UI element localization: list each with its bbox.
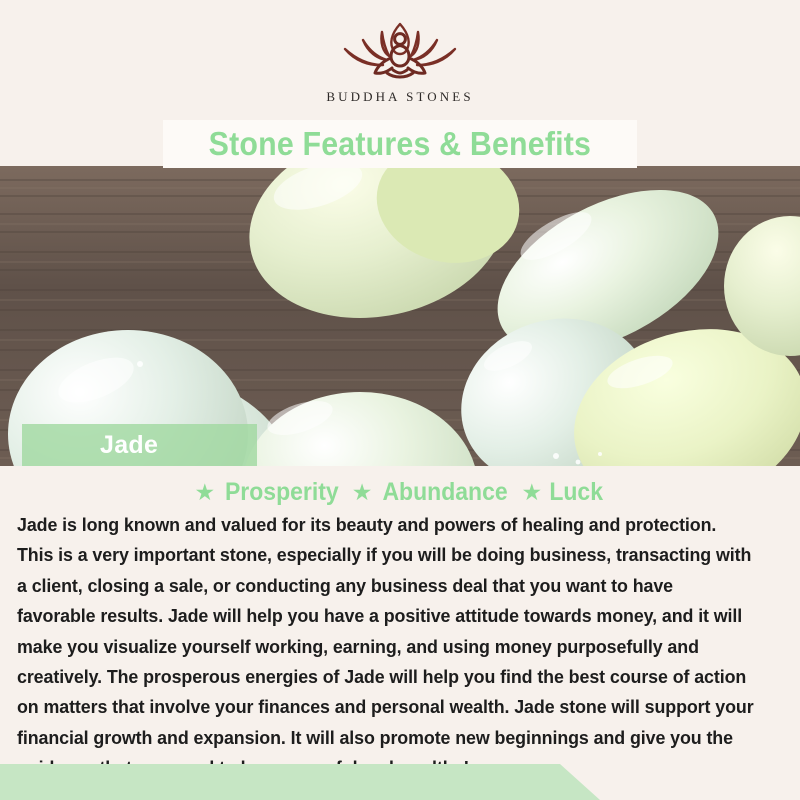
keyword-list: ★ Prosperity ★ Abundance ★ Luck (0, 478, 800, 507)
infographic-card: BUDDHA STONES Stone Features & Benefits (0, 0, 800, 800)
decor-band-bottom (0, 764, 600, 800)
keyword-item: ★ Abundance (352, 478, 514, 507)
brand-name: BUDDHA STONES (326, 89, 473, 105)
keyword-label: Abundance (383, 478, 508, 507)
star-icon: ★ (194, 481, 215, 504)
brand-logo: BUDDHA STONES (0, 18, 800, 105)
star-icon: ★ (522, 481, 543, 504)
stone-name: Jade (100, 431, 158, 460)
keyword-label: Luck (549, 478, 603, 507)
star-icon: ★ (352, 481, 373, 504)
lotus-meditation-icon (325, 18, 475, 84)
title-card: Stone Features & Benefits (163, 120, 637, 168)
page-title: Stone Features & Benefits (209, 125, 592, 163)
keyword-label: Prosperity (225, 478, 339, 507)
content-section: ★ Prosperity ★ Abundance ★ Luck Jade is … (0, 466, 800, 800)
stone-description: Jade is long known and valued for its be… (17, 510, 754, 784)
stone-photo-illustration (0, 166, 800, 466)
keyword-item: ★ Prosperity (194, 478, 343, 507)
keyword-item: ★ Luck (522, 478, 606, 507)
description-paragraph: Jade is long known and valued for its be… (17, 510, 754, 784)
stone-name-band: Jade (22, 424, 257, 466)
stone-photo (0, 166, 800, 466)
